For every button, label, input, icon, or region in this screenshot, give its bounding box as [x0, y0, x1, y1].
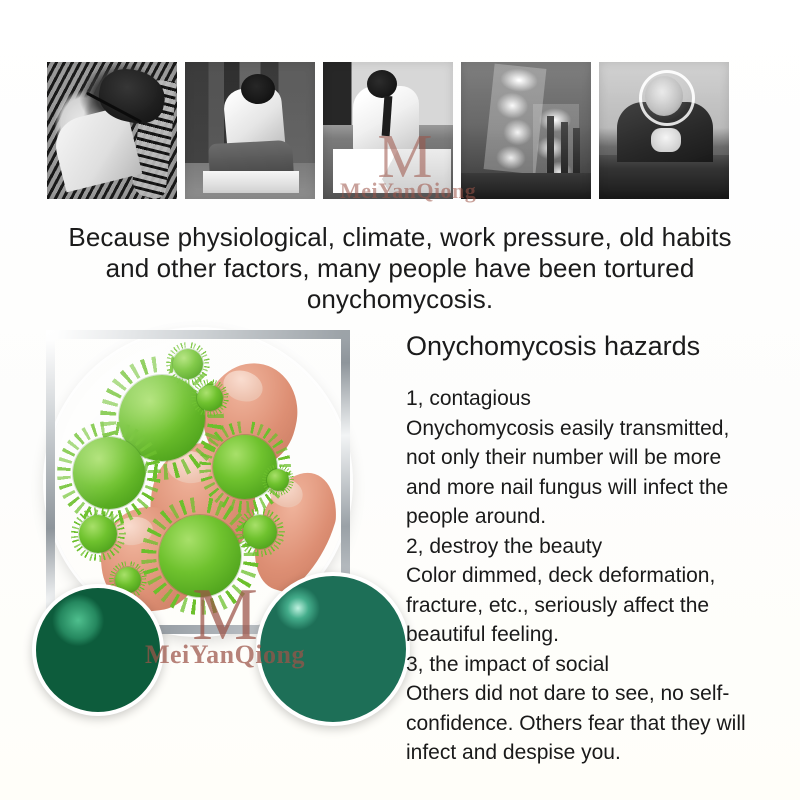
photo-smokestacks [461, 62, 591, 199]
photo-elderly-man [599, 62, 729, 199]
ground-shape [461, 173, 591, 199]
photo-strip [47, 62, 753, 199]
virus-particle [79, 515, 117, 553]
headline: Because physiological, climate, work pre… [60, 222, 740, 315]
bacteria-circle-left [32, 584, 164, 716]
hazards-title: Onychomycosis hazards [406, 330, 756, 362]
arm-shape [50, 106, 143, 193]
hazards-body: 1, contagious Onychomycosis easily trans… [406, 384, 756, 768]
head-shape [367, 70, 397, 98]
photo-person-at-desk [323, 62, 453, 199]
wall-shape [323, 62, 453, 125]
virus-particle [267, 469, 289, 491]
shirt-shape [222, 86, 285, 153]
magnifier-lens-shape [639, 70, 695, 126]
virus-particle [173, 349, 203, 379]
papers-shape [333, 149, 451, 193]
illustration-group [28, 322, 390, 722]
head-shape [645, 76, 683, 116]
photo-man-rubbing-eyes [47, 62, 177, 199]
virus-particle [159, 515, 241, 597]
smokestack [547, 116, 554, 174]
coil-decor [131, 79, 177, 199]
glasses-shape [86, 92, 142, 124]
hands-shape [651, 128, 681, 152]
suit-shape [617, 102, 713, 162]
smokestack [573, 128, 580, 174]
tie-shape [382, 96, 393, 136]
background-panel [185, 62, 315, 163]
head-shape [241, 74, 275, 104]
head-shape [94, 64, 169, 129]
torso-shape [353, 86, 419, 152]
virus-particle [197, 385, 223, 411]
virus-particle [243, 515, 277, 549]
promo-page: M MeiYanQiong Because physiological, cli… [0, 0, 800, 800]
bacteria-circle-right [256, 572, 410, 726]
table-shape [599, 155, 729, 199]
photo-man-hunched [185, 62, 315, 199]
virus-particle [73, 437, 145, 509]
smoke-plume [484, 64, 547, 175]
smoke-plume-secondary [533, 104, 579, 184]
smokestack [561, 122, 568, 174]
bench-shape [203, 171, 299, 193]
hazards-section: Onychomycosis hazards 1, contagious Onyc… [406, 330, 756, 768]
legs-shape [208, 140, 294, 180]
